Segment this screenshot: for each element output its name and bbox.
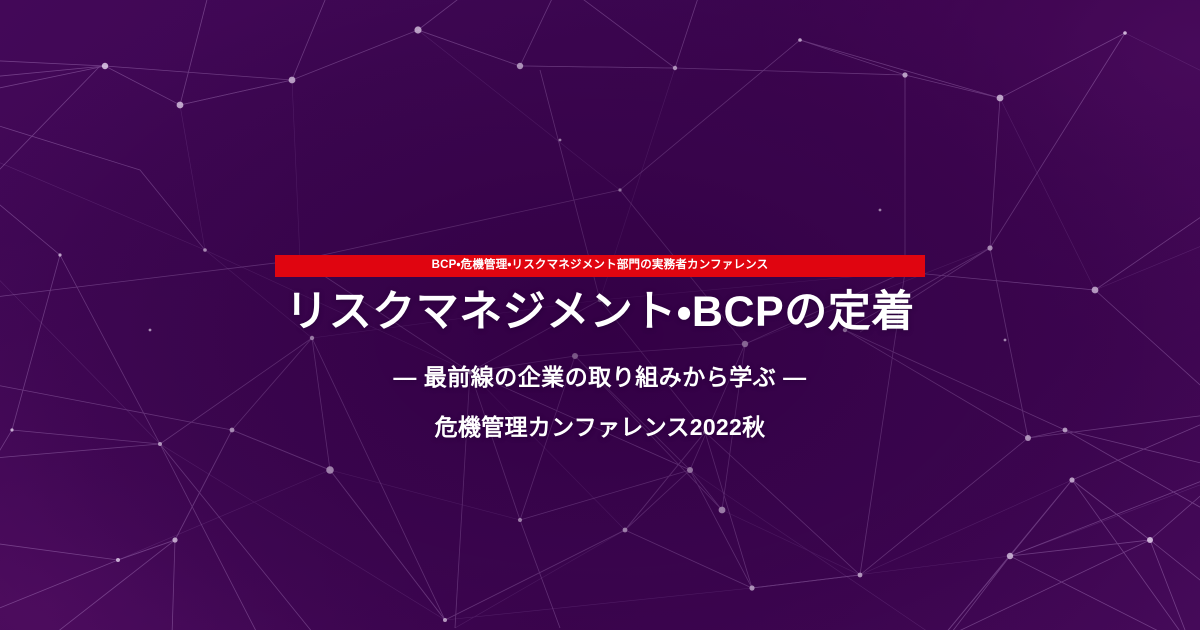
event-name: 危機管理カンファレンス2022秋 [0,414,1200,440]
conference-banner: BCP・危機管理・リスクマネジメント部門の実務者カンファレンス リスクマネジメン… [0,0,1200,630]
page-title: リスクマネジメント・BCPの定着 [0,289,1200,335]
eyebrow-banner: BCP・危機管理・リスクマネジメント部門の実務者カンファレンス [275,255,925,277]
page-subtitle: ― 最前線の企業の取り組みから学ぶ ― [0,364,1200,390]
eyebrow-text: BCP・危機管理・リスクマネジメント部門の実務者カンファレンス [432,260,769,272]
banner-content: BCP・危機管理・リスクマネジメント部門の実務者カンファレンス リスクマネジメン… [0,255,1200,440]
